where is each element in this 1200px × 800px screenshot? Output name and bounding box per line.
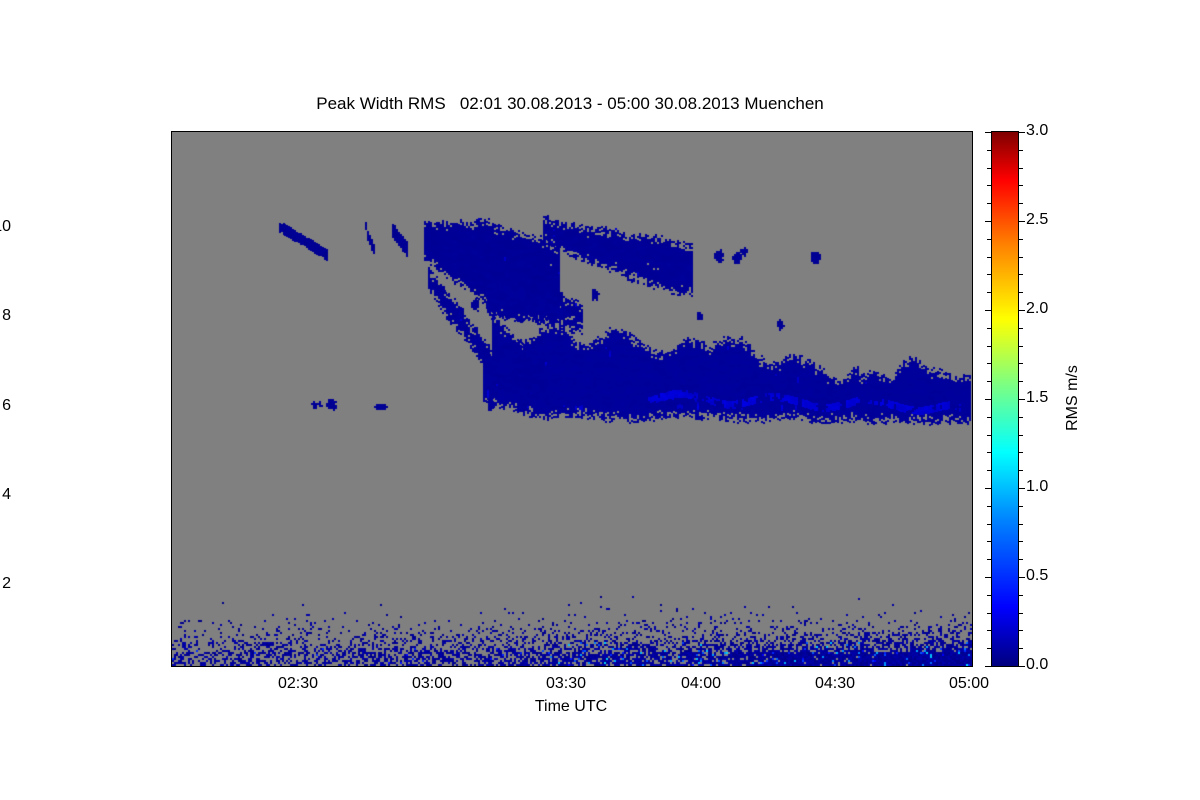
colorbar-tick-minor-right <box>1018 648 1023 649</box>
colorbar-tick-minor-right <box>1018 328 1023 329</box>
x-tick-major-top <box>567 131 568 132</box>
colorbar-tick-minor <box>987 595 992 596</box>
x-tick-minor-top <box>746 131 747 132</box>
colorbar-tick-minor-right <box>1018 363 1023 364</box>
x-tick-minor <box>657 666 658 667</box>
colorbar-tick-minor <box>987 239 992 240</box>
figure-canvas: Peak Width RMS 02:01 30.08.2013 - 05:00 … <box>0 0 1200 800</box>
colorbar-tick-minor <box>987 648 992 649</box>
x-tick-minor-top <box>210 131 211 132</box>
colorbar-label: RMS m/s <box>1064 365 1082 431</box>
y-tick-minor-right <box>972 273 973 274</box>
colorbar-tick-minor <box>987 292 992 293</box>
plot-area[interactable] <box>171 131 973 667</box>
x-tick-minor <box>791 666 792 667</box>
x-tick-major <box>567 666 568 667</box>
x-tick-label: 02:30 <box>278 675 318 693</box>
colorbar[interactable] <box>991 131 1019 667</box>
y-tick-minor-right <box>972 429 973 430</box>
colorbar-tick-minor-right <box>1018 435 1023 436</box>
y-tick-minor <box>171 630 172 631</box>
x-tick-label: 04:00 <box>681 675 721 693</box>
y-tick-minor-right <box>972 250 973 251</box>
colorbar-tick-minor-right <box>1018 630 1023 631</box>
x-tick-label: 04:30 <box>815 675 855 693</box>
y-tick-minor <box>171 362 172 363</box>
colorbar-tick-minor-right <box>1018 524 1023 525</box>
colorbar-tick-minor-right <box>1018 346 1023 347</box>
x-tick-major-top <box>433 131 434 132</box>
x-tick-minor <box>344 666 345 667</box>
colorbar-tick-minor <box>987 488 992 489</box>
y-tick-minor <box>171 340 172 341</box>
x-tick-minor <box>210 666 211 667</box>
y-tick-major <box>171 407 172 408</box>
y-tick-minor-right <box>972 295 973 296</box>
colorbar-tick-label: 2.5 <box>1026 211 1048 229</box>
y-tick-label: 4 <box>2 486 11 504</box>
colorbar-tick-minor <box>987 506 992 507</box>
colorbar-tick-minor-right <box>1018 203 1023 204</box>
y-tick-minor-right <box>972 473 973 474</box>
colorbar-tick-minor-right <box>1018 595 1023 596</box>
colorbar-tick-minor <box>987 541 992 542</box>
x-tick-minor-top <box>612 131 613 132</box>
colorbar-tick-minor <box>987 257 992 258</box>
colorbar-tick-major <box>985 399 992 400</box>
y-tick-major-right <box>972 496 973 497</box>
colorbar-tick-label: 2.0 <box>1026 300 1048 318</box>
y-tick-major-right <box>972 585 973 586</box>
x-tick-minor-top <box>925 131 926 132</box>
y-tick-major <box>171 496 172 497</box>
x-tick-minor <box>478 666 479 667</box>
colorbar-tick-label: 0.0 <box>1026 656 1048 674</box>
colorbar-tick-minor-right <box>1018 381 1023 382</box>
colorbar-tick-minor <box>987 435 992 436</box>
x-tick-minor <box>254 666 255 667</box>
x-tick-major-top <box>970 131 971 132</box>
colorbar-tick-minor <box>987 417 992 418</box>
colorbar-tick-major <box>985 132 992 133</box>
colorbar-tick-minor <box>987 613 992 614</box>
colorbar-tick-minor-right <box>1018 452 1023 453</box>
y-tick-minor <box>171 295 172 296</box>
y-tick-minor <box>171 161 172 162</box>
x-axis-label: Time UTC <box>535 698 607 716</box>
colorbar-tick-minor <box>987 452 992 453</box>
x-tick-major-top <box>299 131 300 132</box>
colorbar-tick-minor <box>987 346 992 347</box>
x-tick-minor-top <box>254 131 255 132</box>
colorbar-tick-major-right <box>1018 221 1025 222</box>
y-tick-minor-right <box>972 161 973 162</box>
y-tick-label: 2 <box>2 575 11 593</box>
colorbar-tick-minor <box>987 630 992 631</box>
colorbar-tick-minor <box>987 524 992 525</box>
x-tick-minor <box>925 666 926 667</box>
y-tick-minor <box>171 273 172 274</box>
x-tick-major <box>433 666 434 667</box>
heatmap-data-layer <box>172 132 972 666</box>
colorbar-tick-minor <box>987 470 992 471</box>
y-tick-label: 10 <box>0 218 11 236</box>
x-tick-minor <box>881 666 882 667</box>
y-tick-minor-right <box>972 384 973 385</box>
x-tick-major-top <box>702 131 703 132</box>
colorbar-tick-label: 1.0 <box>1026 478 1048 496</box>
colorbar-tick-minor-right <box>1018 506 1023 507</box>
colorbar-tick-minor-right <box>1018 239 1023 240</box>
chart-title: Peak Width RMS 02:01 30.08.2013 - 05:00 … <box>0 94 1140 114</box>
colorbar-tick-minor <box>987 185 992 186</box>
colorbar-tick-minor-right <box>1018 541 1023 542</box>
colorbar-tick-minor-right <box>1018 559 1023 560</box>
colorbar-tick-minor <box>987 203 992 204</box>
y-tick-major <box>171 585 172 586</box>
x-tick-minor-top <box>388 131 389 132</box>
y-tick-minor <box>171 183 172 184</box>
x-tick-minor-top <box>657 131 658 132</box>
x-tick-minor <box>612 666 613 667</box>
x-tick-major <box>836 666 837 667</box>
colorbar-tick-minor <box>987 381 992 382</box>
y-tick-major <box>171 228 172 229</box>
colorbar-tick-minor <box>987 168 992 169</box>
y-tick-major-right <box>972 317 973 318</box>
y-tick-minor-right <box>972 563 973 564</box>
y-tick-minor <box>171 206 172 207</box>
x-tick-minor-top <box>881 131 882 132</box>
y-tick-minor <box>171 607 172 608</box>
y-tick-minor <box>171 473 172 474</box>
y-tick-minor <box>171 250 172 251</box>
y-tick-major-right <box>972 228 973 229</box>
colorbar-tick-minor-right <box>1018 417 1023 418</box>
x-tick-minor-top <box>523 131 524 132</box>
colorbar-tick-major-right <box>1018 399 1025 400</box>
colorbar-tick-minor <box>987 274 992 275</box>
colorbar-tick-minor-right <box>1018 168 1023 169</box>
colorbar-tick-major-right <box>1018 577 1025 578</box>
y-tick-minor-right <box>972 340 973 341</box>
colorbar-tick-label: 0.5 <box>1026 567 1048 585</box>
y-tick-minor-right <box>972 206 973 207</box>
y-tick-minor-right <box>972 451 973 452</box>
x-tick-minor-top <box>344 131 345 132</box>
colorbar-tick-minor-right <box>1018 274 1023 275</box>
y-tick-label: 6 <box>2 397 11 415</box>
colorbar-tick-minor-right <box>1018 292 1023 293</box>
colorbar-tick-major-right <box>1018 310 1025 311</box>
y-tick-minor-right <box>972 652 973 653</box>
colorbar-tick-minor <box>987 150 992 151</box>
colorbar-tick-major <box>985 666 992 667</box>
y-tick-major <box>171 317 172 318</box>
colorbar-tick-label: 3.0 <box>1026 122 1048 140</box>
x-tick-minor <box>746 666 747 667</box>
y-tick-minor <box>171 384 172 385</box>
colorbar-tick-minor <box>987 559 992 560</box>
colorbar-tick-minor-right <box>1018 150 1023 151</box>
x-tick-label: 03:00 <box>412 675 452 693</box>
y-tick-label: 8 <box>2 307 11 325</box>
y-tick-minor <box>171 451 172 452</box>
colorbar-tick-minor-right <box>1018 257 1023 258</box>
y-tick-minor-right <box>972 362 973 363</box>
colorbar-tick-minor-right <box>1018 488 1023 489</box>
x-tick-label: 05:00 <box>949 675 989 693</box>
y-tick-minor-right <box>972 540 973 541</box>
colorbar-tick-minor-right <box>1018 613 1023 614</box>
x-tick-minor <box>523 666 524 667</box>
y-tick-minor-right <box>972 607 973 608</box>
colorbar-tick-major-right <box>1018 132 1025 133</box>
y-tick-major-right <box>972 407 973 408</box>
y-tick-minor-right <box>972 183 973 184</box>
x-tick-major <box>702 666 703 667</box>
x-tick-major-top <box>836 131 837 132</box>
colorbar-tick-minor-right <box>1018 185 1023 186</box>
colorbar-tick-minor-right <box>1018 470 1023 471</box>
x-tick-minor-top <box>791 131 792 132</box>
colorbar-tick-minor <box>987 363 992 364</box>
y-tick-minor <box>171 518 172 519</box>
colorbar-tick-minor <box>987 328 992 329</box>
x-tick-label: 03:30 <box>546 675 586 693</box>
y-tick-minor <box>171 540 172 541</box>
colorbar-tick-label: 1.5 <box>1026 389 1048 407</box>
x-tick-major <box>299 666 300 667</box>
x-tick-minor <box>388 666 389 667</box>
x-tick-major <box>970 666 971 667</box>
colorbar-tick-major <box>985 310 992 311</box>
y-tick-minor-right <box>972 630 973 631</box>
x-tick-minor-top <box>478 131 479 132</box>
y-tick-minor-right <box>972 518 973 519</box>
y-tick-minor <box>171 429 172 430</box>
y-tick-minor <box>171 652 172 653</box>
colorbar-tick-major <box>985 577 992 578</box>
colorbar-tick-major-right <box>1018 666 1025 667</box>
colorbar-tick-major <box>985 221 992 222</box>
y-tick-minor <box>171 563 172 564</box>
